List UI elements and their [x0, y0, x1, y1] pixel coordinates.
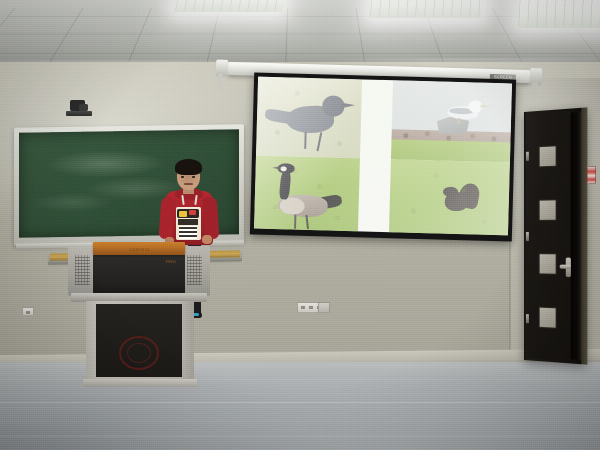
slide-panel-seagull — [391, 80, 512, 162]
goose-head-icon — [277, 163, 294, 173]
goose-leg-icon — [294, 215, 296, 228]
lectern[interactable]: PRO CONTROL — [68, 246, 210, 390]
lectern-desk-label: CONTROL — [129, 247, 151, 252]
projection-screen-surface — [254, 77, 512, 236]
presenter-arm-right — [203, 197, 220, 240]
door-glass-pane-4 — [539, 307, 557, 329]
wall-outlet-left[interactable] — [22, 307, 34, 316]
presenter — [158, 155, 220, 250]
goose-body-icon — [277, 194, 328, 217]
goose-neck-icon — [279, 168, 292, 199]
seagull-beak-icon — [480, 105, 491, 108]
ceiling-light-panel-1 — [174, 0, 286, 12]
ceiling-camera-icon — [66, 100, 92, 120]
door[interactable] — [524, 107, 586, 364]
slide-panel-goose — [254, 156, 360, 232]
door-hinge — [526, 152, 529, 161]
goose-cheek-patch-icon — [281, 166, 287, 171]
door-hinge — [526, 314, 529, 323]
lectern-desktop: CONTROL — [93, 242, 185, 255]
lectern-control-panel[interactable]: PRO — [93, 255, 185, 293]
floor-seam — [0, 436, 600, 437]
screen-bracket-left — [217, 74, 222, 90]
chalk-smudge — [30, 192, 114, 212]
door-jamb — [581, 107, 587, 364]
crow-beak-icon — [342, 103, 356, 109]
door-glass-pane-3 — [539, 253, 557, 275]
squirrel-tail-icon — [457, 182, 481, 210]
chalk-smudge — [45, 149, 166, 178]
speaker-grille-icon — [75, 255, 90, 285]
squirrel-head-icon — [443, 187, 458, 197]
goose-leg-icon — [305, 215, 309, 229]
screen-bracket-right — [532, 82, 537, 98]
seagull-leg-icon — [458, 118, 460, 124]
ceiling-light-panel-3 — [517, 0, 600, 28]
presenter-arm-left — [159, 197, 176, 240]
presenter-hair — [175, 159, 202, 175]
lectern-emblem-icon — [119, 336, 159, 370]
door-glass-pane-1 — [539, 145, 557, 167]
presenter-eye-left — [181, 176, 184, 178]
door-hinge — [526, 232, 529, 241]
classroom-photo: SCREEN — [0, 0, 600, 450]
door-glass-pane-2 — [539, 199, 557, 221]
crow-body-icon — [286, 105, 335, 134]
floor-seam — [0, 402, 600, 403]
crow-leg-icon — [304, 132, 306, 149]
speaker-grille-icon — [187, 255, 202, 285]
crow-tail-icon — [265, 108, 294, 124]
goose-tail-icon — [319, 194, 342, 209]
door-leaf[interactable] — [526, 111, 570, 362]
fire-safety-sign — [587, 166, 596, 184]
slide-panel-squirrel — [389, 159, 510, 235]
presenter-hand-right — [202, 235, 212, 244]
squirrel-body-icon — [444, 191, 468, 211]
crow-leg-icon — [317, 132, 323, 151]
presenter-eye-right — [192, 176, 195, 178]
lectern-plinth — [83, 379, 197, 387]
lectern-badge: PRO — [166, 259, 176, 264]
goose-breast-icon — [279, 197, 304, 215]
hoodie-graphic-print — [176, 207, 201, 240]
ceiling-light-panel-2 — [369, 0, 483, 18]
goose-beak-icon — [272, 166, 279, 169]
crow-head-icon — [322, 96, 345, 117]
lectern-front-panel — [96, 304, 182, 377]
presenter-mouth — [184, 183, 193, 185]
projection-screen[interactable] — [250, 72, 516, 241]
slide-panel-crow — [256, 77, 362, 159]
wall-outlet-center-2[interactable] — [318, 302, 330, 313]
